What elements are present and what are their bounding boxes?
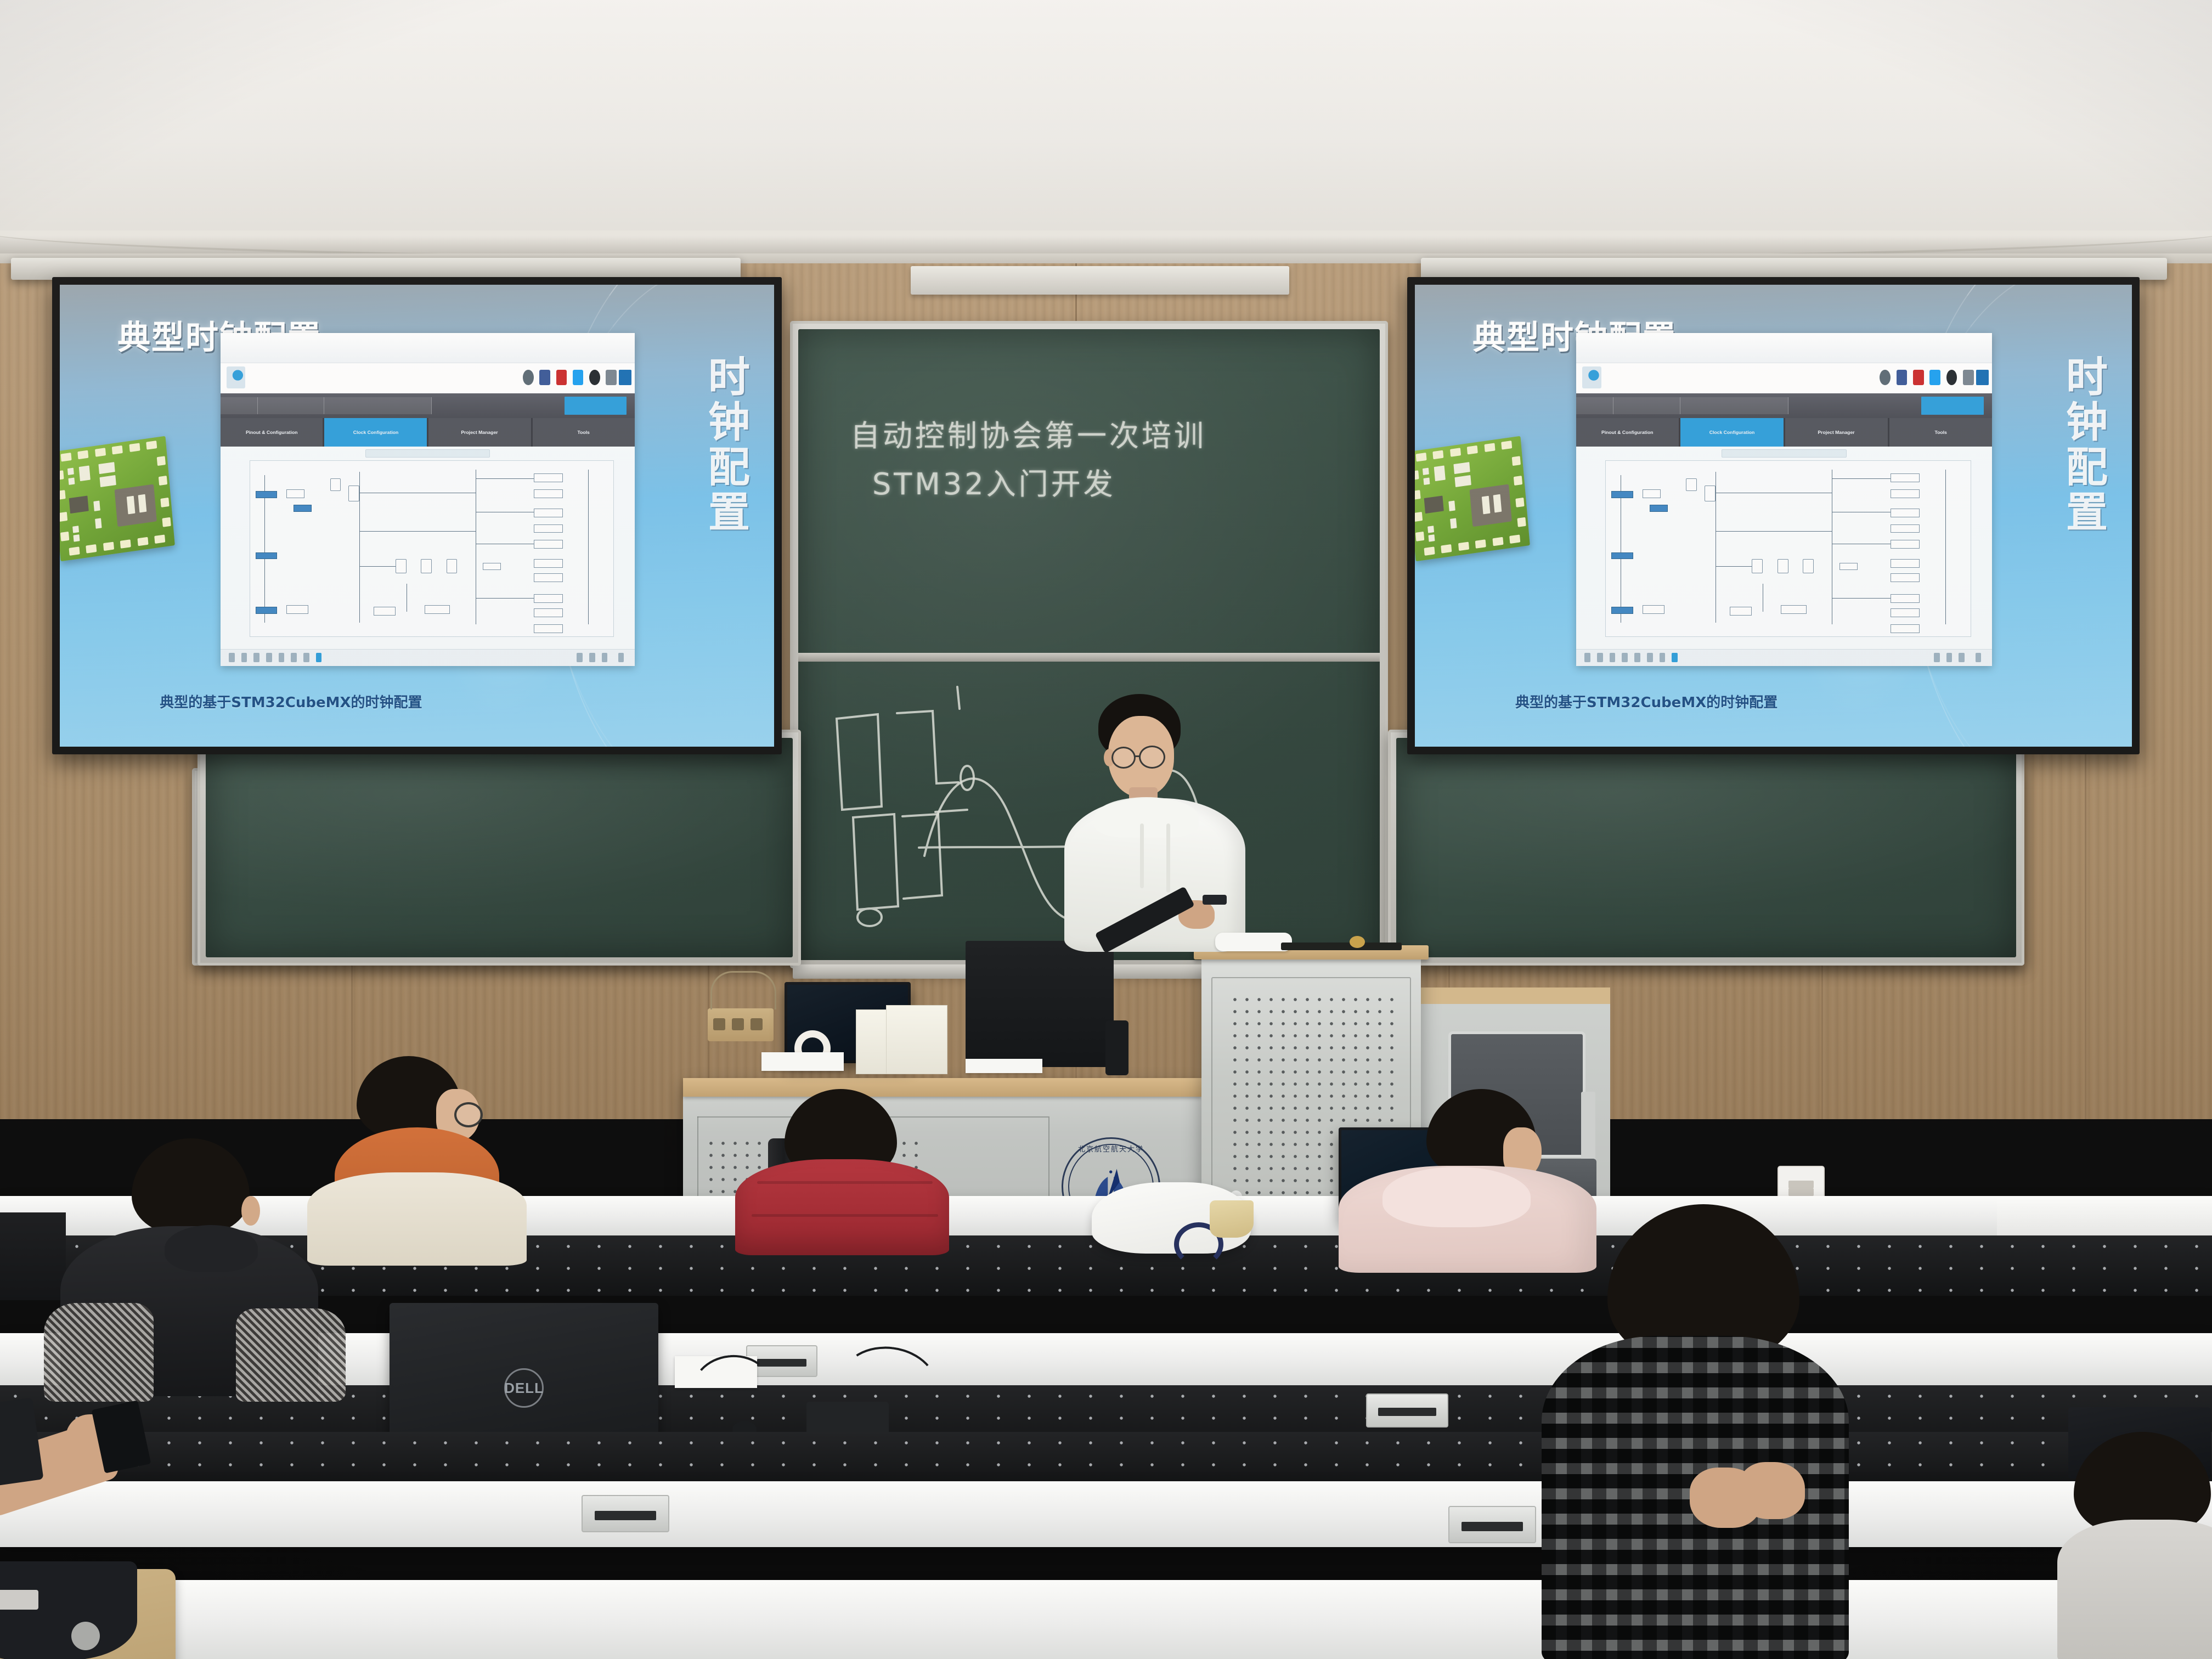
left-slide: 典型时钟配置 — [60, 285, 774, 747]
desk-cable-grommet-3[interactable] — [582, 1495, 669, 1532]
yellow-pouch — [1210, 1200, 1254, 1238]
phone-case — [0, 1398, 44, 1494]
cubemx-tab-project[interactable]: Project Manager — [428, 418, 531, 447]
right-slide-cubemx-window: Pinout & Configuration Clock Configurati… — [1576, 333, 1992, 665]
right-slide-pcb-icon — [1415, 436, 1530, 562]
desk-end-panel-left — [0, 1212, 66, 1300]
chalk-title-line1: 自动控制协会第一次培训 — [850, 411, 1206, 455]
student-front-left — [0, 1404, 208, 1659]
student-orange-hood — [324, 1056, 505, 1237]
cubemx-tab-strip[interactable]: Pinout & Configuration Clock Configurati… — [221, 418, 635, 447]
cubemx-tab-project-right[interactable]: Project Manager — [1785, 418, 1888, 447]
red-puffer-jacket — [735, 1159, 949, 1255]
left-slide-caption: 典型的基于STM32CubeMX的时钟配置 — [160, 691, 422, 712]
black-hood — [165, 1225, 258, 1272]
left-slide-vertical-text: 时钟配置 — [702, 355, 749, 535]
right-slide-caption: 典型的基于STM32CubeMX的时钟配置 — [1515, 691, 1778, 712]
crest-name-cn: 北京航空航天大学 — [1063, 1143, 1159, 1154]
right-projection-screen[interactable]: 典型时钟配置 — [1407, 277, 2140, 754]
plaid-shirt-left — [44, 1303, 154, 1402]
ceiling — [0, 0, 2212, 258]
left-screen-housing — [11, 258, 741, 280]
student-plaid-shirt — [1509, 1204, 1887, 1659]
papers-on-counter — [761, 1052, 844, 1071]
presentation-clicker[interactable] — [1203, 895, 1227, 905]
clock-tree-diagram — [250, 460, 614, 637]
lectern-notebook — [1215, 933, 1292, 951]
student-far-right — [2074, 1432, 2212, 1659]
left-projection-screen[interactable]: 典型时钟配置 — [52, 277, 782, 754]
glasses-icon — [454, 1102, 483, 1127]
cubemx-tab-pinout-right[interactable]: Pinout & Configuration — [1576, 418, 1679, 447]
desk-cables — [710, 971, 776, 1009]
student-red-puffer — [724, 1089, 955, 1248]
classroom-photo: 自动控制协会第一次培训 STM32入门开发 — [0, 0, 2212, 1659]
cubemx-tab-clock-right[interactable]: Clock Configuration — [1680, 418, 1783, 447]
desk-cable-grommet-2[interactable] — [1366, 1393, 1448, 1427]
chalkboard-right — [1388, 730, 2024, 966]
left-slide-pcb-icon — [60, 436, 175, 562]
backpack-logo — [0, 1590, 38, 1610]
power-strip — [708, 1008, 774, 1041]
student-black-hood — [71, 1138, 296, 1396]
loudspeaker — [966, 941, 1114, 1067]
lectern-knob[interactable] — [1350, 936, 1365, 948]
plaid-shirt-right — [236, 1308, 346, 1402]
papers-on-counter-2 — [966, 1059, 1042, 1073]
cubemx-tab-clock[interactable]: Clock Configuration — [324, 418, 427, 447]
cubemx-tab-tools-right[interactable]: Tools — [1889, 418, 1992, 447]
right-slide: 典型时钟配置 — [1415, 285, 2132, 747]
white-box-2 — [886, 1005, 947, 1074]
right-screen-housing — [1421, 258, 2167, 280]
chalk-title-line2: STM32入门开发 — [872, 460, 1116, 503]
right-slide-vertical-text: 时钟配置 — [2060, 355, 2107, 535]
cubemx-tab-pinout[interactable]: Pinout & Configuration — [221, 418, 323, 447]
cream-jacket — [307, 1172, 527, 1266]
dell-logo: DELL — [504, 1368, 544, 1408]
cubemx-tab-tools[interactable]: Tools — [533, 418, 635, 447]
ceiling-light-fixture — [911, 266, 1289, 295]
desk-end-right — [1997, 1196, 2212, 1235]
clock-tree-diagram-right — [1605, 460, 1971, 637]
chalkboard-left — [198, 730, 801, 966]
left-slide-cubemx-window: Pinout & Configuration Clock Configurati… — [221, 333, 635, 665]
tan-backpack — [0, 1569, 176, 1659]
lectern-slot — [1281, 943, 1402, 950]
